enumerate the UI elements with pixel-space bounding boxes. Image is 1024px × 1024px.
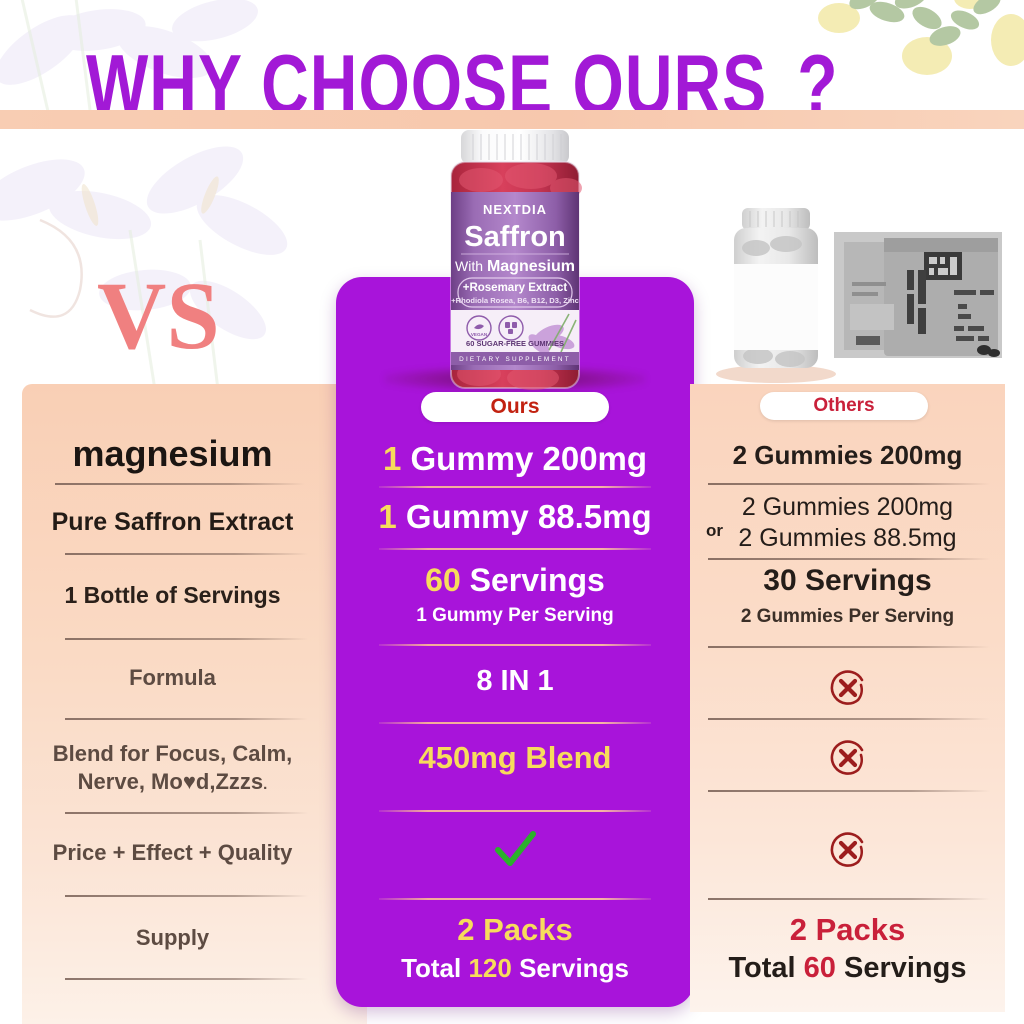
infographic-canvas: WHY CHOOSE OURS? VS magnesium Pure Saffr… [0, 0, 1024, 1023]
others-row-1-text: 2 Gummies 200mg [733, 440, 963, 470]
ours-row-7-number: 2 [457, 912, 474, 947]
blend-line2-mid: d, [196, 769, 216, 794]
others-row-7-sub: Total 60 Servings [728, 952, 966, 984]
svg-text:Saffron: Saffron [464, 221, 566, 253]
others-total-number: 60 [804, 952, 836, 984]
ours-total-post: Servings [512, 953, 629, 983]
ours-row-3-text: Servings [470, 562, 605, 598]
check-icon [492, 830, 538, 870]
others-row-2-line2: 2 Gummies 88.5mg [690, 523, 1005, 554]
header-accent-bar [0, 110, 1024, 129]
ours-row-3: 60 Servings [425, 562, 605, 598]
feature-label-price-effect-quality: Price + Effect + Quality [0, 840, 345, 866]
ours-row-7: 2 Packs [457, 912, 573, 947]
ours-total-pre: Total [401, 953, 468, 983]
product-bottle-image: NEXTDIA Saffron With Magnesium +Rosemary… [421, 128, 609, 390]
blend-line2-pre: Nerve, Mo [78, 769, 183, 794]
ours-row-2-text: Gummy 88.5mg [406, 498, 652, 535]
x-circle-icon [828, 668, 868, 708]
ours-row-3-number: 60 [425, 562, 461, 598]
ours-row-2-number: 1 [378, 498, 396, 535]
svg-text:+Rhodiola Rosea, B6, B12, D3,: +Rhodiola Rosea, B6, B12, D3, Zinc [451, 296, 579, 305]
x-circle-icon [828, 830, 868, 870]
others-row-3-text: 30 Servings [763, 564, 931, 597]
ours-badge: Ours [421, 392, 609, 422]
others-badge-label: Others [813, 395, 874, 417]
feature-label-blend-line2: Nerve, Mo♥d,Zzzs. [0, 768, 345, 796]
ours-row-2: 1 Gummy 88.5mg [378, 498, 651, 535]
blend-period: . [263, 776, 267, 793]
ours-row-7-sub: Total 120 Servings [401, 953, 629, 983]
ours-badge-label: Ours [490, 395, 539, 419]
svg-text:+Rosemary Extract: +Rosemary Extract [463, 282, 568, 294]
feature-label-magnesium: magnesium [0, 433, 345, 475]
blend-line2-zzzs: Zzzs [215, 769, 263, 794]
feature-label-supply: Supply [0, 925, 345, 951]
ours-row-3-sub: 1 Gummy Per Serving [416, 605, 613, 626]
ours-row-5-text: 450mg Blend [419, 740, 612, 775]
ours-row-1-number: 1 [383, 440, 401, 477]
others-row-7-text: 2 Packs [790, 912, 906, 947]
feature-label-blend-line1: Blend for Focus, Calm, [0, 740, 345, 768]
ours-row-4-text: 8 IN 1 [476, 665, 553, 697]
feature-label-saffron-extract: Pure Saffron Extract [0, 508, 345, 537]
heart-icon: ♥ [183, 769, 196, 794]
feature-label-bottle-servings: 1 Bottle of Servings [0, 582, 345, 609]
x-circle-icon [828, 738, 868, 778]
svg-text:VEGAN: VEGAN [471, 332, 488, 337]
svg-text:60 SUGAR-FREE GUMMIES: 60 SUGAR-FREE GUMMIES [466, 339, 564, 348]
others-total-post: Servings [836, 952, 967, 984]
svg-text:NEXTDIA: NEXTDIA [483, 202, 547, 217]
ours-total-number: 120 [468, 953, 511, 983]
others-total-pre: Total [728, 952, 803, 984]
vs-label: VS [97, 268, 220, 364]
feature-label-formula: Formula [0, 665, 345, 691]
ours-row-1: 1 Gummy 200mg [383, 440, 647, 477]
others-product-image [706, 186, 1006, 384]
svg-text:DIETARY SUPPLEMENT: DIETARY SUPPLEMENT [459, 356, 571, 363]
others-row-2-line1: 2 Gummies 200mg [690, 492, 1005, 523]
others-row-3-sub: 2 Gummies Per Serving [741, 606, 954, 627]
svg-text:With Magnesium: With Magnesium [455, 258, 575, 275]
ours-row-1-text: Gummy 200mg [410, 440, 647, 477]
others-badge: Others [760, 392, 928, 420]
ours-row-7-text: Packs [483, 912, 573, 947]
page-title-area: WHY CHOOSE OURS? [0, 22, 1024, 114]
